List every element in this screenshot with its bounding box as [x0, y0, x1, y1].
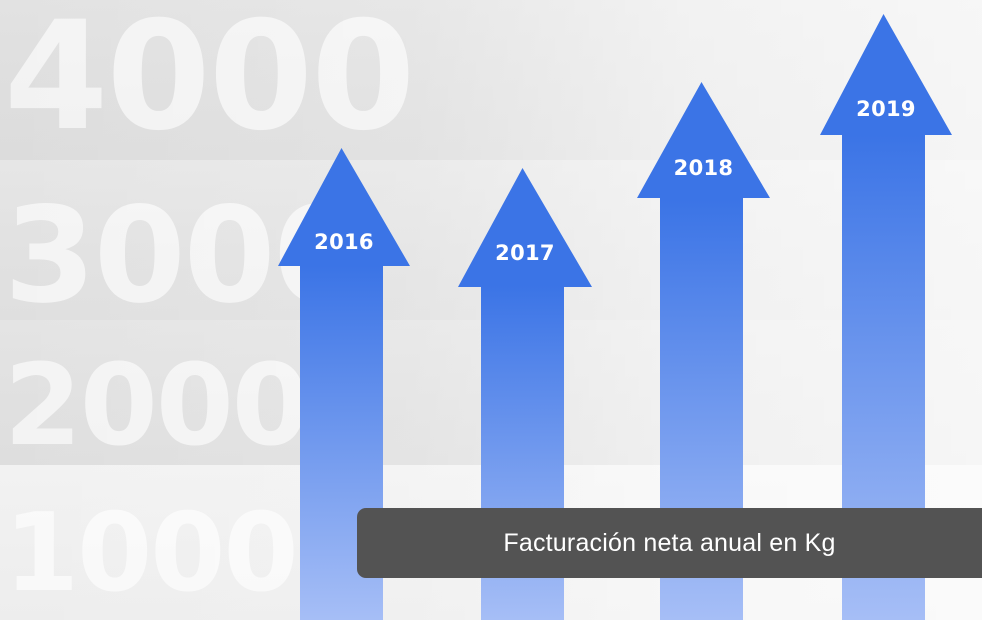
caption-banner: Facturación neta anual en Kg — [357, 508, 982, 578]
caption-text: Facturación neta anual en Kg — [503, 529, 835, 558]
infographic-canvas: 4000 3000 2000 1000 2016201720182019 Fac… — [0, 0, 982, 620]
